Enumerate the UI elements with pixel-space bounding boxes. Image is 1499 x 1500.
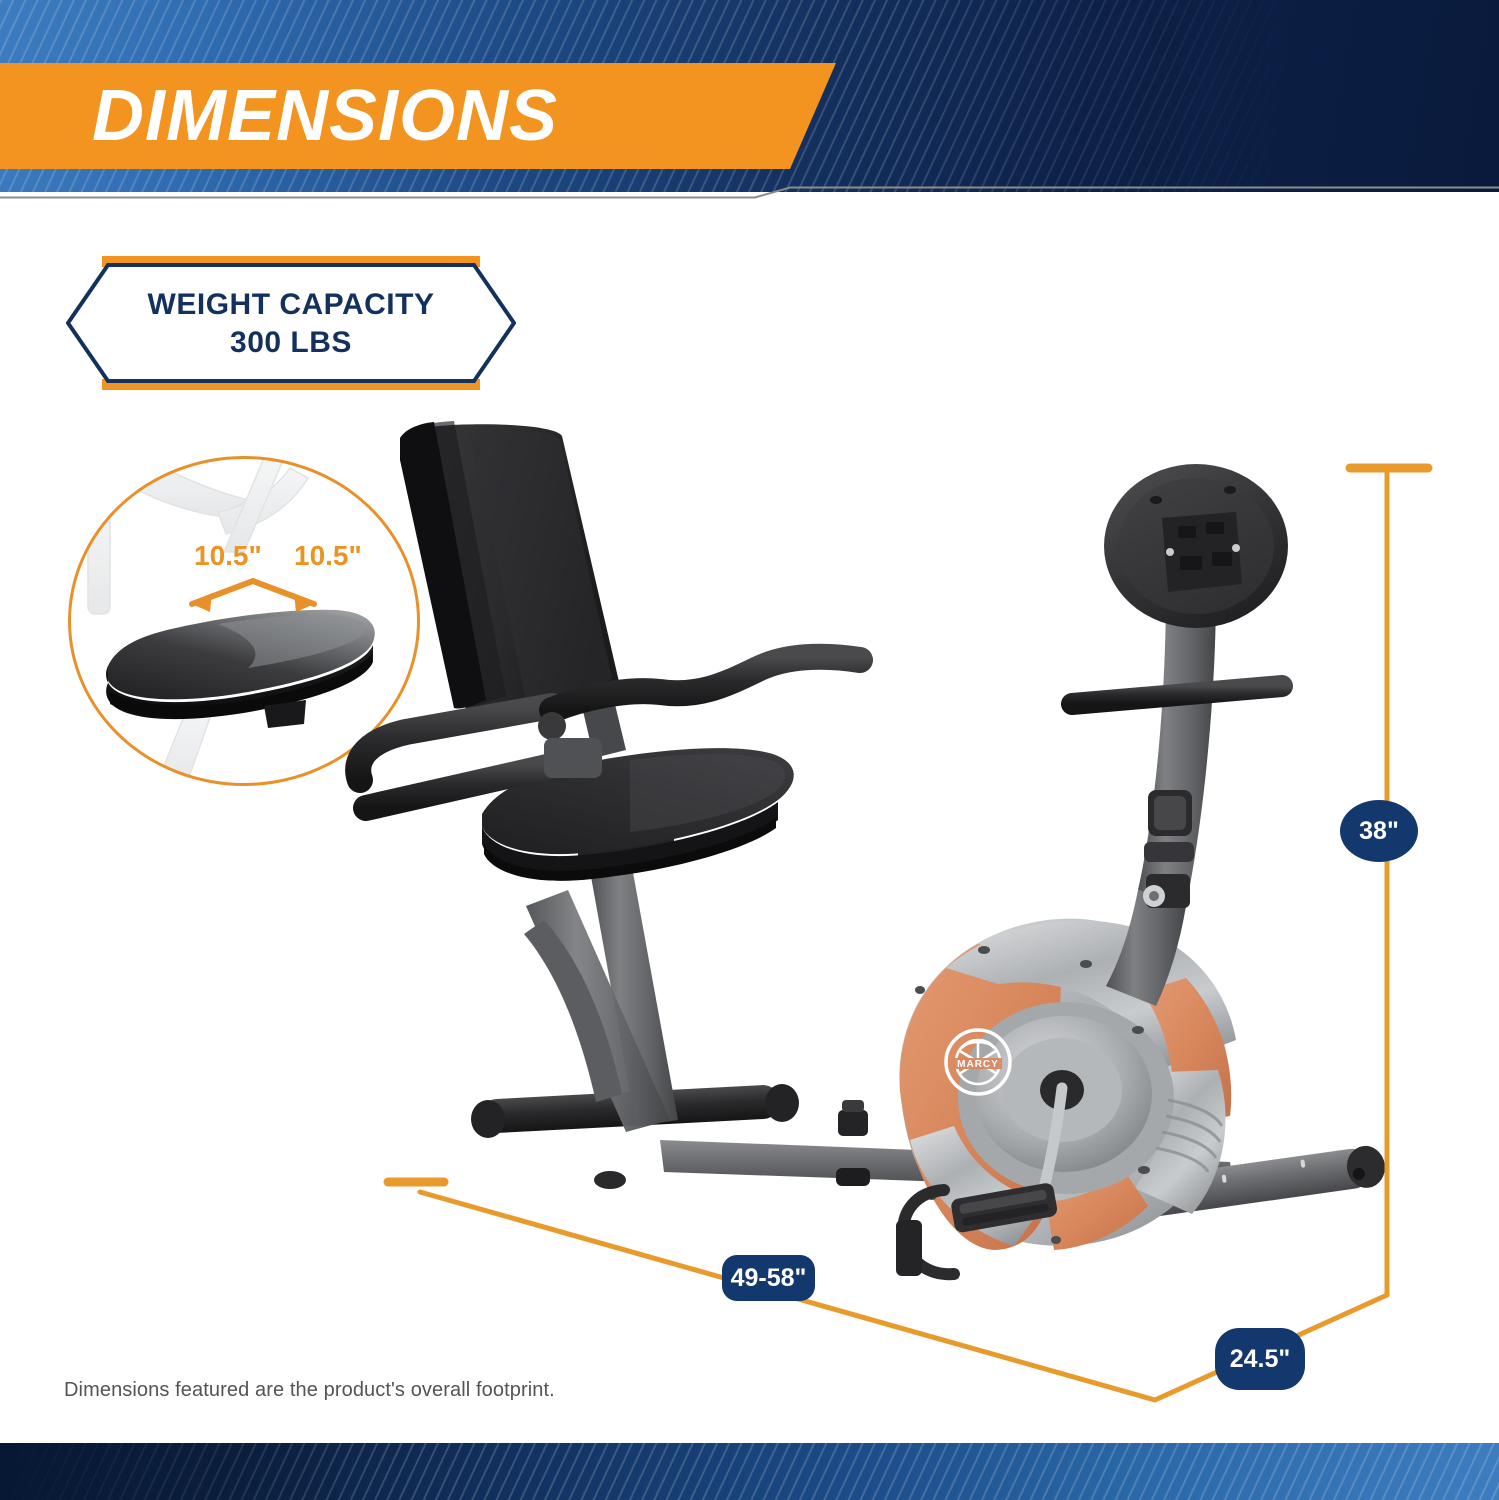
dimensions-infographic: DIMENSIONS WEIGHT CAPACITY 300 LBS: [0, 0, 1499, 1500]
width-dimension-pill: 24.5": [1215, 1328, 1305, 1390]
weight-capacity-text: WEIGHT CAPACITY 300 LBS: [66, 286, 516, 362]
seat-width-label-left: 10.5": [194, 540, 262, 572]
page-footer: [0, 1443, 1499, 1500]
height-dimension-pill: 38": [1340, 800, 1418, 862]
footer-stripe-pattern: [0, 1443, 1499, 1500]
marcy-logo: MARCY: [946, 1030, 1010, 1094]
header-underline-rule: [0, 186, 1499, 190]
weight-capacity-line1: WEIGHT CAPACITY: [66, 286, 516, 324]
weight-capacity-line2: 300 LBS: [66, 324, 516, 362]
weight-capacity-badge: WEIGHT CAPACITY 300 LBS: [66, 256, 516, 390]
page-title: DIMENSIONS: [92, 74, 558, 158]
length-dimension-pill: 49-58": [722, 1255, 815, 1301]
product-image-recumbent-bike: MARCY: [330, 420, 1390, 1400]
footnote-text: Dimensions featured are the product's ov…: [64, 1379, 555, 1402]
svg-text:MARCY: MARCY: [957, 1059, 999, 1070]
page-header: DIMENSIONS: [0, 0, 1499, 192]
